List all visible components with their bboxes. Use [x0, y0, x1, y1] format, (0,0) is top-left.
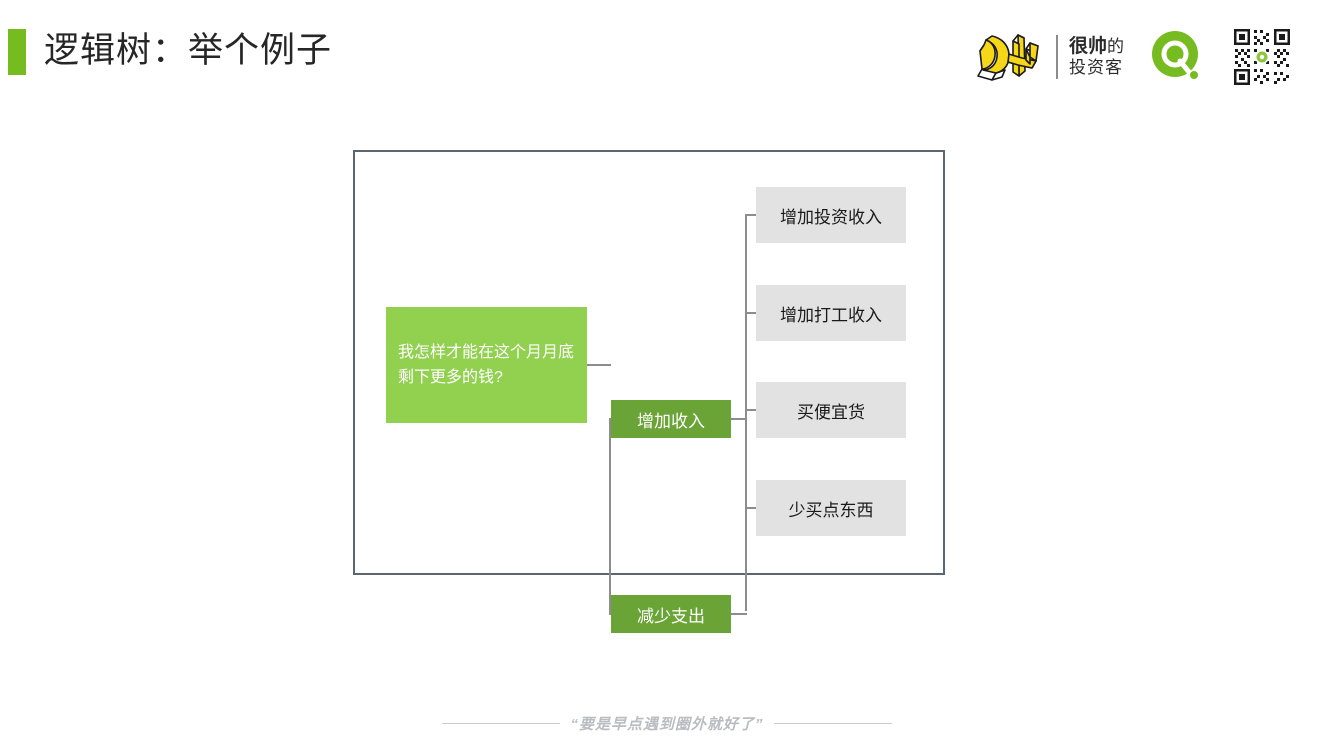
qr-code-icon [1232, 27, 1292, 87]
logic-tree: 我怎样才能在这个月月底剩下更多的钱? 增加收入 减少支出 增加投资收入 增加打工… [355, 152, 947, 577]
tree-node-leaf-label: 买便宜货 [797, 398, 865, 423]
tree-node-leaf-label: 少买点东西 [789, 496, 874, 521]
shuai-logo-icon [972, 27, 1044, 87]
tree-node-branch-increase-income[interactable]: 增加收入 [611, 400, 731, 438]
connector-bottom-stub [731, 613, 747, 615]
brand-name: 很帅的 投资客 [1069, 36, 1124, 78]
footer-rule-left [442, 723, 560, 724]
tree-node-root-label: 我怎样才能在这个月月底剩下更多的钱? [398, 340, 575, 390]
tree-node-leaf-label: 增加打工收入 [780, 301, 882, 326]
diagram-frame: 我怎样才能在这个月月底剩下更多的钱? 增加收入 减少支出 增加投资收入 增加打工… [353, 150, 945, 575]
brand-name-line1: 很帅的 [1069, 36, 1124, 58]
footer-quote: “要是早点遇到圈外就好了” [570, 713, 763, 734]
brand-name-suffix: 的 [1107, 37, 1124, 56]
connector-root-vertical [609, 419, 611, 614]
connector-bottom-vertical [745, 409, 747, 611]
tree-node-branch-label: 增加收入 [637, 407, 705, 432]
connector-top-vertical [745, 214, 747, 420]
tree-node-branch-reduce-spending[interactable]: 减少支出 [611, 595, 731, 633]
brand-divider [1056, 35, 1058, 79]
title-accent-bar [8, 29, 26, 75]
footer-rule-right [774, 723, 892, 724]
tree-node-leaf-label: 增加投资收入 [780, 203, 882, 228]
tree-node-branch-label: 减少支出 [637, 602, 705, 627]
slide-footer: “要是早点遇到圈外就好了” [0, 713, 1334, 734]
tree-node-leaf-buy-less[interactable]: 少买点东西 [756, 480, 906, 536]
tree-node-root[interactable]: 我怎样才能在这个月月底剩下更多的钱? [386, 307, 587, 423]
brand-name-bold: 很帅 [1069, 36, 1107, 57]
brand-name-line2: 投资客 [1069, 58, 1124, 78]
connector-root-stub [587, 364, 611, 366]
brand-cluster: 很帅的 投资客 [972, 22, 1292, 92]
tree-node-leaf-buy-cheap[interactable]: 买便宜货 [756, 382, 906, 438]
tree-node-leaf-work-income[interactable]: 增加打工收入 [756, 285, 906, 341]
q-logo-icon [1150, 30, 1204, 84]
tree-node-leaf-investment-income[interactable]: 增加投资收入 [756, 187, 906, 243]
page-title: 逻辑树：举个例子 [44, 27, 332, 75]
slide-header: 逻辑树：举个例子 [0, 0, 1334, 110]
